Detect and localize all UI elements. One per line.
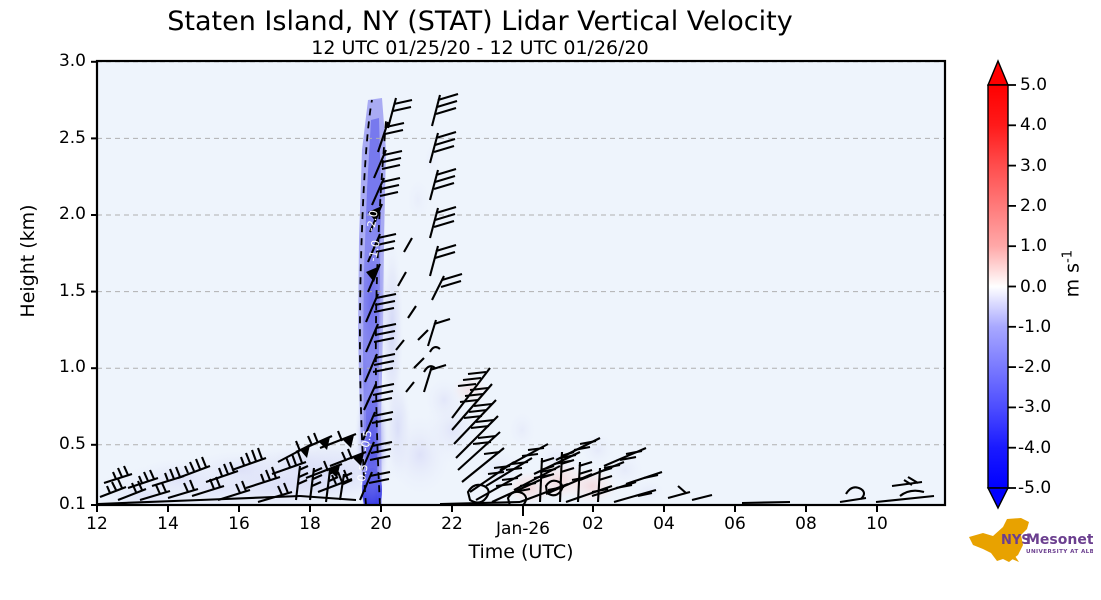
colorbar-gradient (988, 85, 1008, 488)
x-tick-label: 06 (724, 514, 746, 534)
y-tick-label: 3.0 (59, 51, 86, 71)
colorbar-tick-label: 4.0 (1020, 115, 1047, 135)
y-tick-label: 2.5 (59, 128, 86, 148)
x-tick-label: 16 (228, 514, 250, 534)
colorbar-tick-label: -5.0 (1018, 478, 1051, 498)
colorbar (988, 61, 1016, 508)
colorbar-tick-label: 2.0 (1020, 196, 1047, 216)
colorbar-tick-label: -3.0 (1018, 397, 1051, 417)
colorbar-tick-label: 1.0 (1020, 236, 1047, 256)
x-tick-label: 10 (866, 514, 888, 534)
y-tick-label: 0.1 (59, 494, 86, 514)
x-tick-label: 08 (795, 514, 817, 534)
y-tick-label: 2.0 (59, 204, 86, 224)
nys-mesonet-logo: NYS Mesonet UNIVERSITY AT ALBANY (963, 515, 1093, 567)
x-axis-ticks (97, 505, 877, 516)
y-tick-label: 1.0 (59, 357, 86, 377)
plot-svg: -2.0 -1.0 -0.5 -0.5 (0, 0, 1101, 600)
x-tick-label: 18 (299, 514, 321, 534)
colorbar-min-extend-arrow (988, 488, 1008, 508)
x-tick-label: 12 (86, 514, 108, 534)
figure-canvas: Staten Island, NY (STAT) Lidar Vertical … (0, 0, 1101, 600)
logo-subtitle-text: UNIVERSITY AT ALBANY (1026, 549, 1093, 555)
colorbar-tick-label: 0.0 (1020, 277, 1047, 297)
x-tick-label: 14 (157, 514, 179, 534)
colorbar-tick-label: 3.0 (1020, 156, 1047, 176)
y-tick-label: 0.5 (59, 434, 86, 454)
y-tick-label: 1.5 (59, 281, 86, 301)
barb (742, 502, 790, 503)
colorbar-tick-label: -4.0 (1018, 438, 1051, 458)
colorbar-tick-label: -1.0 (1018, 317, 1051, 337)
x-tick-label-date: Jan-26 (496, 519, 550, 539)
colorbar-tick-label: 5.0 (1020, 75, 1047, 95)
colorbar-max-extend-arrow (988, 61, 1008, 85)
logo-mesonet-text: Mesonet (1026, 532, 1093, 548)
colorbar-ticks (1008, 85, 1016, 488)
x-tick-label: 22 (441, 514, 463, 534)
x-tick-label: 02 (582, 514, 604, 534)
colorbar-tick-label: -2.0 (1018, 357, 1051, 377)
x-tick-label: 20 (370, 514, 392, 534)
x-tick-label: 04 (653, 514, 675, 534)
